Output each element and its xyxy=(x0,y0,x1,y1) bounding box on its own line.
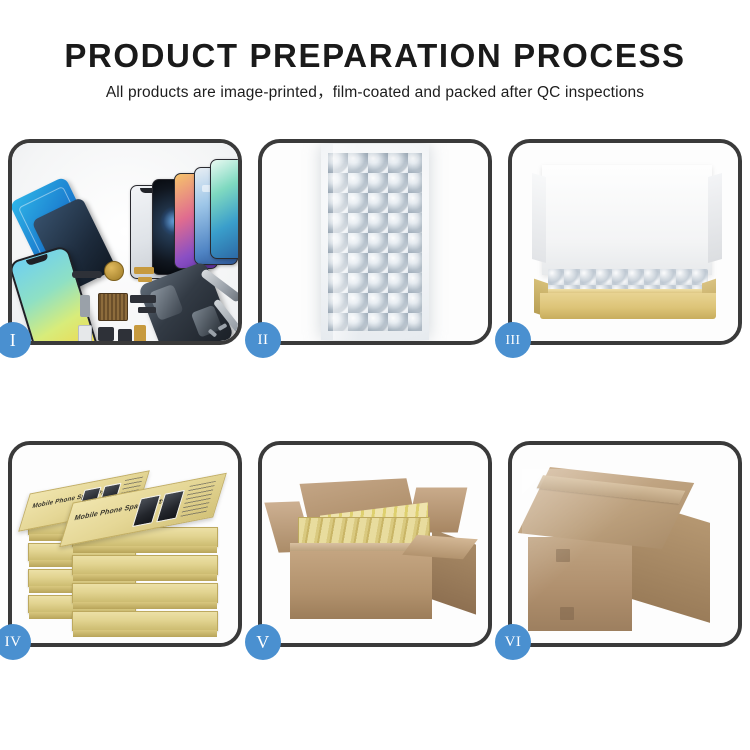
inner-box-front-wall xyxy=(540,293,716,319)
process-step-panel-3: III xyxy=(508,139,742,345)
spare-part-cable xyxy=(130,295,156,303)
retail-box-right-4 xyxy=(72,583,218,603)
step-5-image xyxy=(262,445,488,643)
process-step-panel-1: I xyxy=(8,139,242,345)
step-badge-3: III xyxy=(495,322,531,358)
spare-part-coin xyxy=(104,261,124,281)
sealed-carton-handle-hole-bottom xyxy=(560,607,574,620)
retail-box-stack: Mobile Phone Spare Parts Mobile Phone Sp… xyxy=(12,445,238,643)
phone-device-5 xyxy=(210,159,238,259)
process-step-grid: I II III xyxy=(8,139,742,687)
page-title: PRODUCT PREPARATION PROCESS xyxy=(0,0,750,74)
spare-part-chip xyxy=(98,293,128,321)
spare-part-module xyxy=(134,325,146,341)
carton-front-panel xyxy=(290,551,432,619)
sealed-carton-front xyxy=(528,537,632,631)
page-subtitle: All products are image-printed，film-coat… xyxy=(0,74,750,102)
spare-part-camera xyxy=(118,329,132,341)
sealed-carton-handle-hole-top xyxy=(556,549,570,562)
step-badge-6: VI xyxy=(495,624,531,660)
spare-part-flex-gold-2 xyxy=(138,277,152,282)
retail-box-spec-lines-lower xyxy=(180,481,216,518)
step-4-image: Mobile Phone Spare Parts Mobile Phone Sp… xyxy=(12,445,238,643)
bubble-wrap-sheet xyxy=(321,144,429,340)
spare-part-bracket xyxy=(80,295,90,317)
process-step-panel-4: Mobile Phone Spare Parts Mobile Phone Sp… xyxy=(8,441,242,647)
step-badge-5: V xyxy=(245,624,281,660)
step-1-image xyxy=(12,143,238,341)
step-6-image xyxy=(512,445,738,643)
spare-part-connector xyxy=(72,271,102,278)
process-step-panel-6: VI xyxy=(508,441,742,647)
bubble-wrap-cells xyxy=(328,153,422,331)
retail-box-right-5 xyxy=(72,611,218,631)
retail-box-right-3 xyxy=(72,555,218,575)
header: PRODUCT PREPARATION PROCESS All products… xyxy=(0,0,750,102)
spare-part-speaker xyxy=(98,327,114,341)
process-step-panel-5: V xyxy=(258,441,492,647)
spare-part-flex-gold xyxy=(134,267,154,274)
spare-part-battery xyxy=(78,325,92,341)
process-step-panel-2: II xyxy=(258,139,492,345)
step-2-image xyxy=(262,143,488,341)
step-3-image xyxy=(512,143,738,341)
spare-part-cable-2 xyxy=(138,307,156,313)
step-badge-2: II xyxy=(245,322,281,358)
inner-box-white-lid xyxy=(542,165,712,275)
step-badge-1: I xyxy=(0,322,31,358)
step-badge-4: IV xyxy=(0,624,31,660)
